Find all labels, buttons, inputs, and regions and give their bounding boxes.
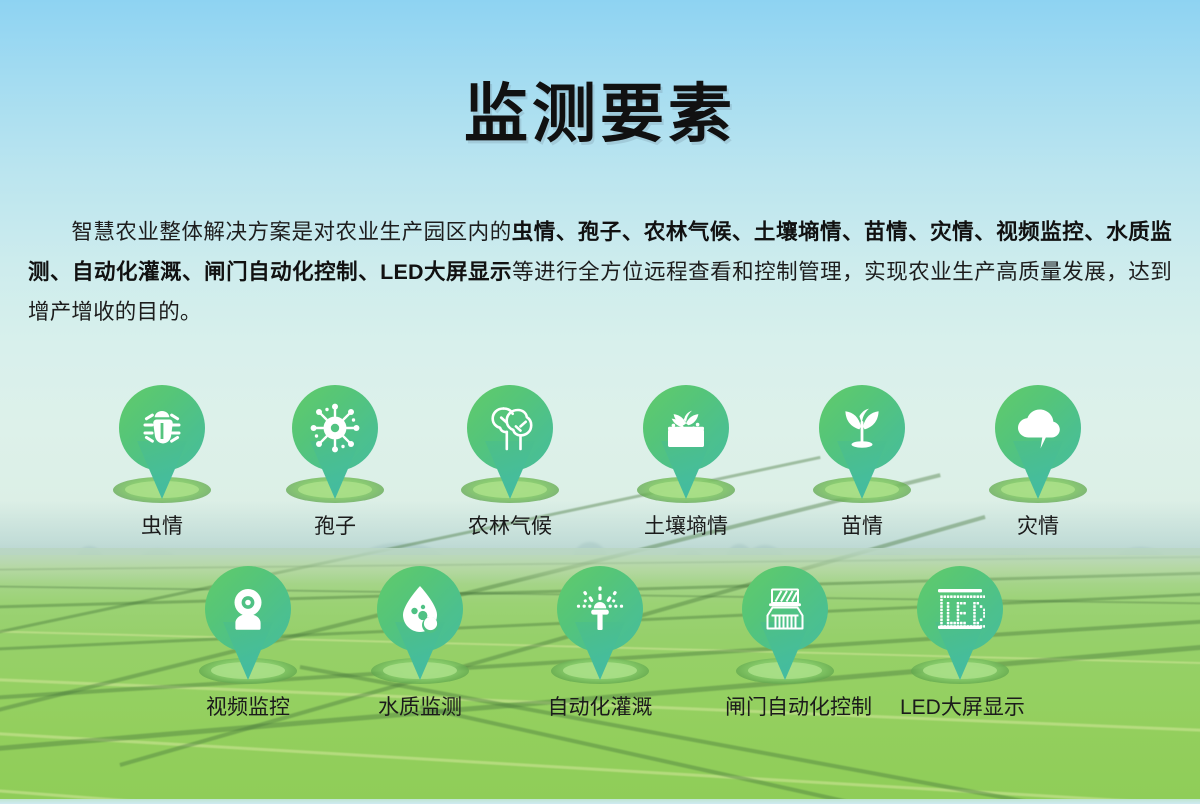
bug-icon xyxy=(119,385,205,471)
soil-moisture-icon xyxy=(643,385,729,471)
map-pin-marker[interactable] xyxy=(819,385,905,501)
map-pin-marker[interactable] xyxy=(917,566,1003,682)
intro-segment-0: 智慧农业整体解决方案是对农业生产园区内的 xyxy=(71,220,512,244)
intro-paragraph: 智慧农业整体解决方案是对农业生产园区内的虫情、孢子、农林气候、土壤墒情、苗情、灾… xyxy=(28,212,1172,332)
pin-label: 闸门自动化控制 xyxy=(725,696,845,720)
map-pin-marker[interactable] xyxy=(557,566,643,682)
storm-cloud-icon xyxy=(995,385,1081,471)
monitor-pin-视频监控[interactable]: 视频监控 xyxy=(188,566,308,720)
monitor-pin-农林气候[interactable]: 农林气候 xyxy=(450,385,570,539)
water-drop-icon xyxy=(377,566,463,652)
pin-label: 灾情 xyxy=(978,515,1098,539)
header: 监测要素 xyxy=(0,0,1200,146)
monitor-pin-苗情[interactable]: 苗情 xyxy=(802,385,922,539)
map-pin-marker[interactable] xyxy=(292,385,378,501)
pin-label: 孢子 xyxy=(275,515,395,539)
map-pin-marker[interactable] xyxy=(205,566,291,682)
map-pin-marker[interactable] xyxy=(643,385,729,501)
monitor-pin-水质监测[interactable]: 水质监测 xyxy=(360,566,480,720)
pin-label: LED大屏显示 xyxy=(900,696,1020,720)
map-pin-marker[interactable] xyxy=(119,385,205,501)
sluice-gate-icon xyxy=(742,566,828,652)
sprout-icon xyxy=(819,385,905,471)
map-pin-marker[interactable] xyxy=(995,385,1081,501)
sprinkler-icon xyxy=(557,566,643,652)
monitor-pin-土壤墒情[interactable]: 土壤墒情 xyxy=(626,385,746,539)
pin-label: 自动化灌溉 xyxy=(540,696,660,720)
bottom-edge-strip xyxy=(0,799,1200,804)
map-pin-marker[interactable] xyxy=(377,566,463,682)
field-furrow-line xyxy=(0,727,1200,804)
monitor-pin-虫情[interactable]: 虫情 xyxy=(102,385,222,539)
pin-label: 水质监测 xyxy=(360,696,480,720)
trees-icon xyxy=(467,385,553,471)
camera-icon xyxy=(205,566,291,652)
pin-label: 虫情 xyxy=(102,515,222,539)
monitor-pin-闸门自动化控制[interactable]: 闸门自动化控制 xyxy=(725,566,845,720)
pin-label: 土壤墒情 xyxy=(626,515,746,539)
pin-label: 视频监控 xyxy=(188,696,308,720)
monitor-pin-灾情[interactable]: 灾情 xyxy=(978,385,1098,539)
pin-label: 农林气候 xyxy=(450,515,570,539)
monitor-pin-孢子[interactable]: 孢子 xyxy=(275,385,395,539)
spore-virus-icon xyxy=(292,385,378,471)
led-display-icon xyxy=(917,566,1003,652)
pin-label: 苗情 xyxy=(802,515,922,539)
poster-canvas: 监测要素 智慧农业整体解决方案是对农业生产园区内的虫情、孢子、农林气候、土壤墒情… xyxy=(0,0,1200,804)
map-pin-marker[interactable] xyxy=(742,566,828,682)
monitor-pin-自动化灌溉[interactable]: 自动化灌溉 xyxy=(540,566,660,720)
page-title: 监测要素 xyxy=(0,0,1200,146)
map-pin-marker[interactable] xyxy=(467,385,553,501)
monitor-pin-LED大屏显示[interactable]: LED大屏显示 xyxy=(900,566,1020,720)
